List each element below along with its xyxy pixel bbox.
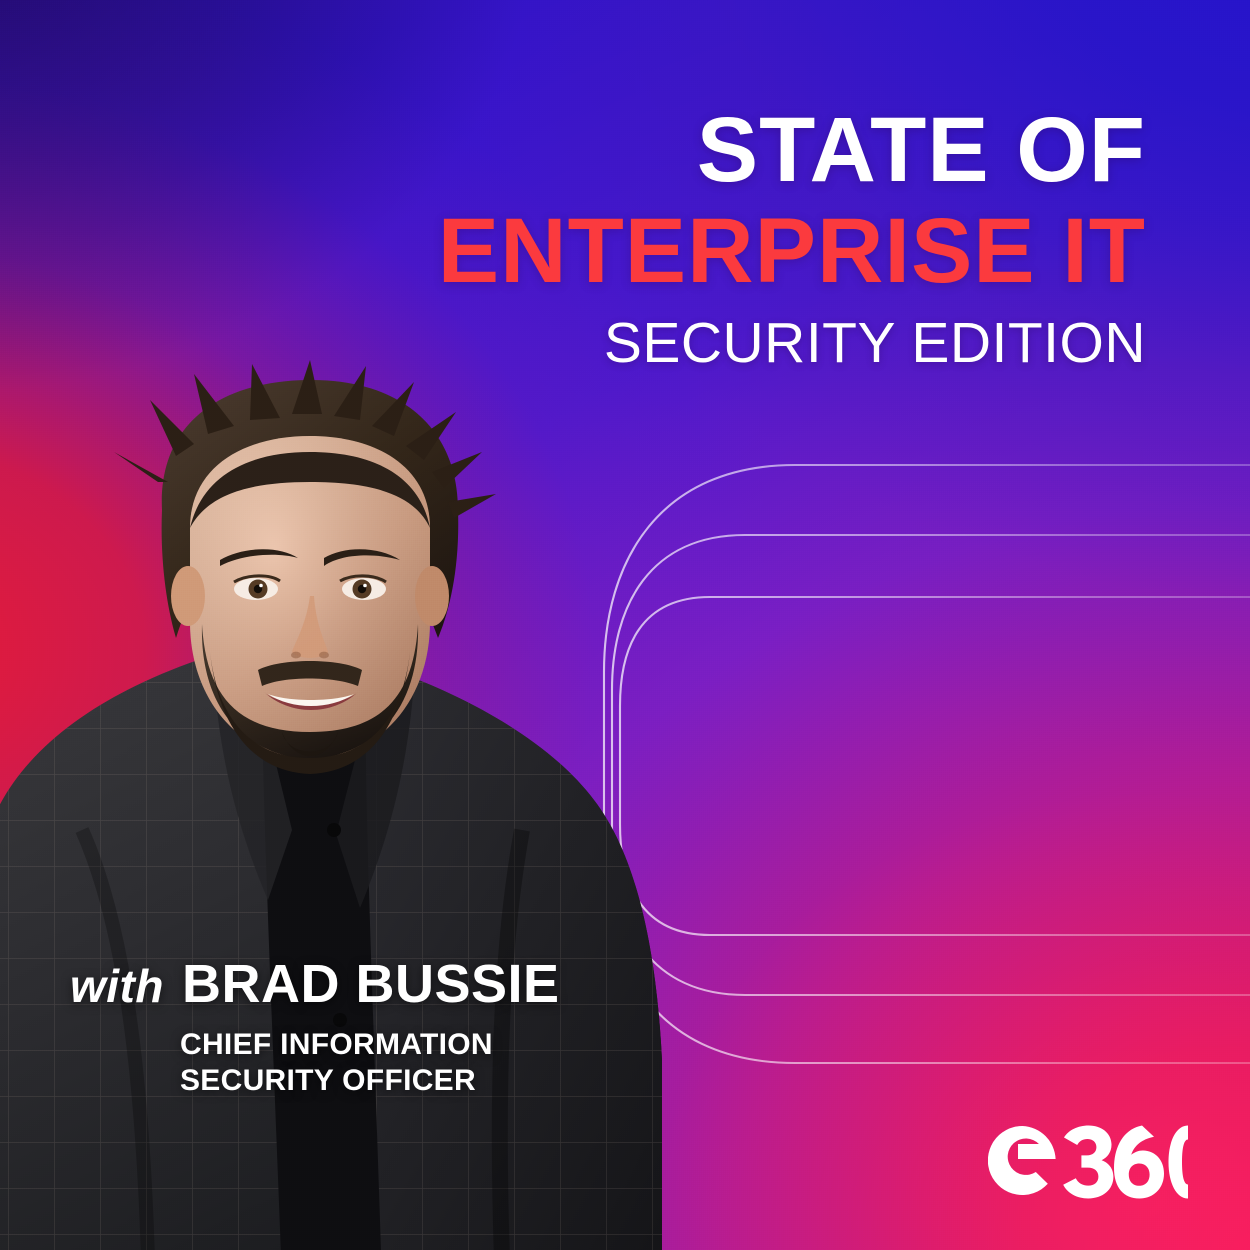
host-name: BRAD BUSSIE <box>182 953 560 1015</box>
host-prefix-with: with <box>70 959 164 1013</box>
host-job-title: CHIEF INFORMATION SECURITY OFFICER <box>180 1027 560 1100</box>
title-line-enterprise-it: ENTERPRISE IT <box>438 205 1146 297</box>
host-name-row: with BRAD BUSSIE <box>70 953 560 1015</box>
e360-logo-mark <box>988 1126 1188 1199</box>
host-credit-block: with BRAD BUSSIE CHIEF INFORMATION SECUR… <box>70 953 560 1100</box>
host-job-title-line2: SECURITY OFFICER <box>180 1063 560 1100</box>
cover-title-block: STATE OF ENTERPRISE IT SECURITY EDITION <box>438 104 1146 372</box>
ear-right <box>415 566 449 626</box>
logo-digit-0 <box>1169 1126 1189 1199</box>
logo-letter-e <box>988 1126 1056 1195</box>
ear-left <box>171 566 205 626</box>
host-job-title-line1: CHIEF INFORMATION <box>180 1027 560 1064</box>
title-line-security-edition: SECURITY EDITION <box>438 315 1146 372</box>
logo-digit-3 <box>1063 1126 1113 1199</box>
logo-digit-6 <box>1114 1126 1164 1199</box>
title-line-state-of: STATE OF <box>438 104 1146 196</box>
podcast-cover-art: STATE OF ENTERPRISE IT SECURITY EDITION … <box>0 0 1250 1250</box>
e360-logo[interactable]: e360 <box>988 1118 1188 1210</box>
host-portrait <box>0 360 662 1250</box>
